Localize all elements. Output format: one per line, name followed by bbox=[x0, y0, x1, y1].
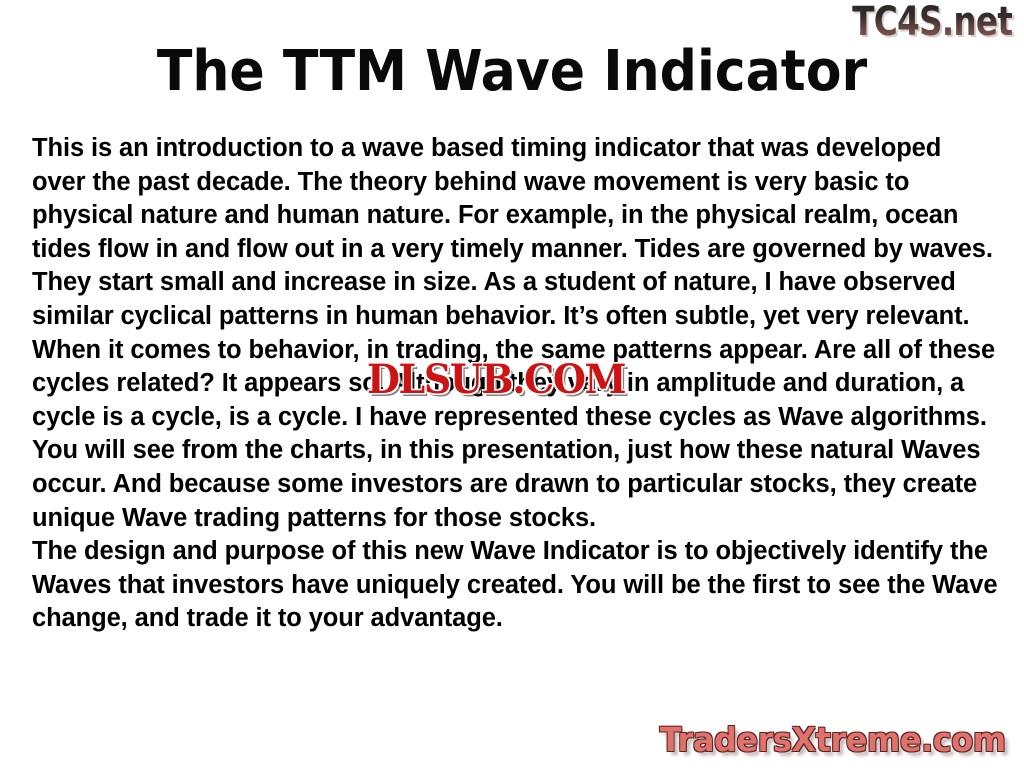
watermark-dlsub: DLSUB.COM bbox=[367, 360, 625, 400]
body-paragraph: This is an introduction to a wave based … bbox=[32, 132, 998, 535]
site-logo-tradersxtreme: TradersXtreme.com bbox=[660, 723, 1006, 756]
presentation-slide: TC4S.net TC4S.net The TTM Wave Indicator… bbox=[0, 0, 1024, 768]
brand-logo-tc4s: TC4S.net bbox=[852, 2, 1012, 42]
body-paragraph: The design and purpose of this new Wave … bbox=[32, 535, 998, 636]
page-title: The TTM Wave Indicator bbox=[36, 42, 988, 102]
